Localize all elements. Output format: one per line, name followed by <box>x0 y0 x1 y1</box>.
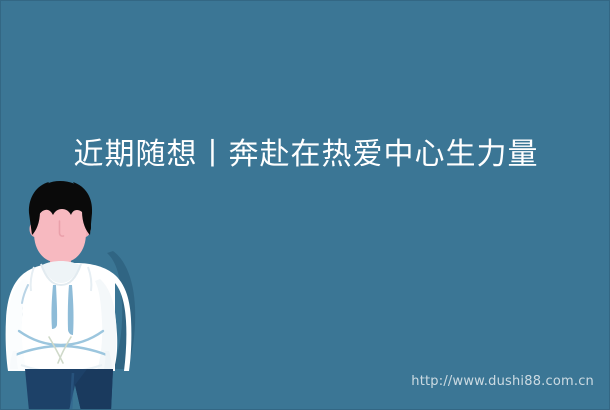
watermark-url: http://www.dushi88.com.cn <box>411 374 594 390</box>
page-title: 近期随想丨奔赴在热爱中心生力量 <box>1 135 610 175</box>
person-illustration <box>1 179 181 410</box>
pants <box>25 369 113 410</box>
image-canvas: 近期随想丨奔赴在热爱中心生力量 <box>0 0 610 410</box>
